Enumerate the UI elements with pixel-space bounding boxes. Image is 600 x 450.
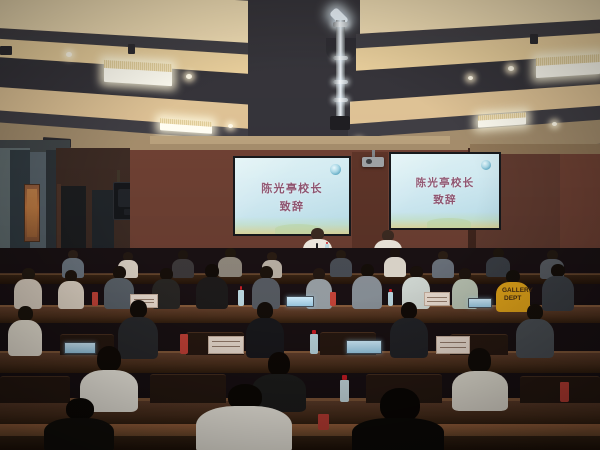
attendee-r2-5: [196, 264, 228, 308]
attendee-r2-2: [58, 270, 84, 308]
downlight-right-2: [468, 76, 473, 80]
screen-glare-left: [235, 158, 349, 234]
projector-pole-ring-1: [333, 22, 348, 27]
water-bottle-r2-2: [238, 290, 244, 306]
downlight-left-2: [186, 74, 192, 79]
water-bottle-foreground: [318, 414, 329, 430]
downlight-right-1: [508, 66, 514, 71]
downlight-left-1: [66, 52, 72, 57]
water-bottle-r3-1: [180, 334, 188, 354]
projection-screen-left-frame: 陈光亭校长 致辞: [233, 156, 351, 236]
ceiling-mount-left: [128, 44, 135, 54]
attendee-r3-1: [8, 306, 42, 354]
downlight-left-3: [228, 124, 233, 128]
water-bottle-r4-1: [560, 382, 569, 402]
ceiling-light-fixture-right-1: [536, 54, 600, 78]
projection-screen-right: 陈光亭校长 致辞: [391, 154, 499, 228]
attendee-foreground-dark: [352, 388, 444, 450]
attendee-far-6: [330, 250, 352, 276]
auditorium-photograph: 陈光亭校长 致辞 陈光亭校长 致辞: [0, 0, 600, 450]
downlight-right-3: [552, 122, 557, 126]
screen-glare-right: [391, 154, 499, 228]
ceiling-vent-left: [0, 46, 12, 55]
ceiling-mount-right: [530, 34, 538, 44]
projector-pole-ring-3: [333, 80, 348, 84]
shirt-text-line2: DEPT: [504, 296, 521, 303]
ceiling-light-fixture-left-1: [104, 60, 172, 86]
water-bottle-r4-2: [340, 380, 349, 402]
soffit-upper-lip: [150, 136, 450, 144]
water-bottle-r2-3: [330, 292, 336, 306]
projector-pole-ring-4: [333, 98, 348, 102]
attendee-r4-3: [452, 348, 508, 408]
laptop-r3-1: [346, 340, 382, 354]
projection-screen-right-frame: 陈光亭校长 致辞: [389, 152, 501, 230]
laptop-r2-2: [468, 298, 492, 308]
water-bottle-r3-2: [310, 334, 318, 354]
shirt-text-line1: GALLERY: [502, 288, 533, 295]
attendee-far-8: [432, 251, 454, 277]
attendee-r2-1: [14, 268, 42, 308]
projector-pole-base: [330, 116, 350, 130]
attendee-r3-3: [246, 302, 284, 356]
attendee-r3-4: [390, 302, 428, 356]
projector-pole: [336, 20, 345, 122]
projection-screen-left: 陈光亭校长 致辞: [235, 158, 349, 234]
ceiling-projector: [362, 157, 384, 167]
ceiling: [0, 0, 600, 152]
attendee-foreground-left: [44, 398, 114, 450]
hanging-scroll-artwork: [24, 184, 40, 242]
audience-area: GALLERY DEPT: [0, 248, 600, 450]
attendee-r2-8: [352, 264, 382, 308]
projector-pole-ring-2: [333, 56, 348, 60]
name-card-r3-1: [208, 336, 244, 354]
laptop-r2-1: [286, 296, 314, 307]
attendee-foreground-white: [196, 384, 292, 450]
water-bottle-r2-1: [92, 292, 98, 306]
attendee-r3-5: [516, 304, 554, 356]
